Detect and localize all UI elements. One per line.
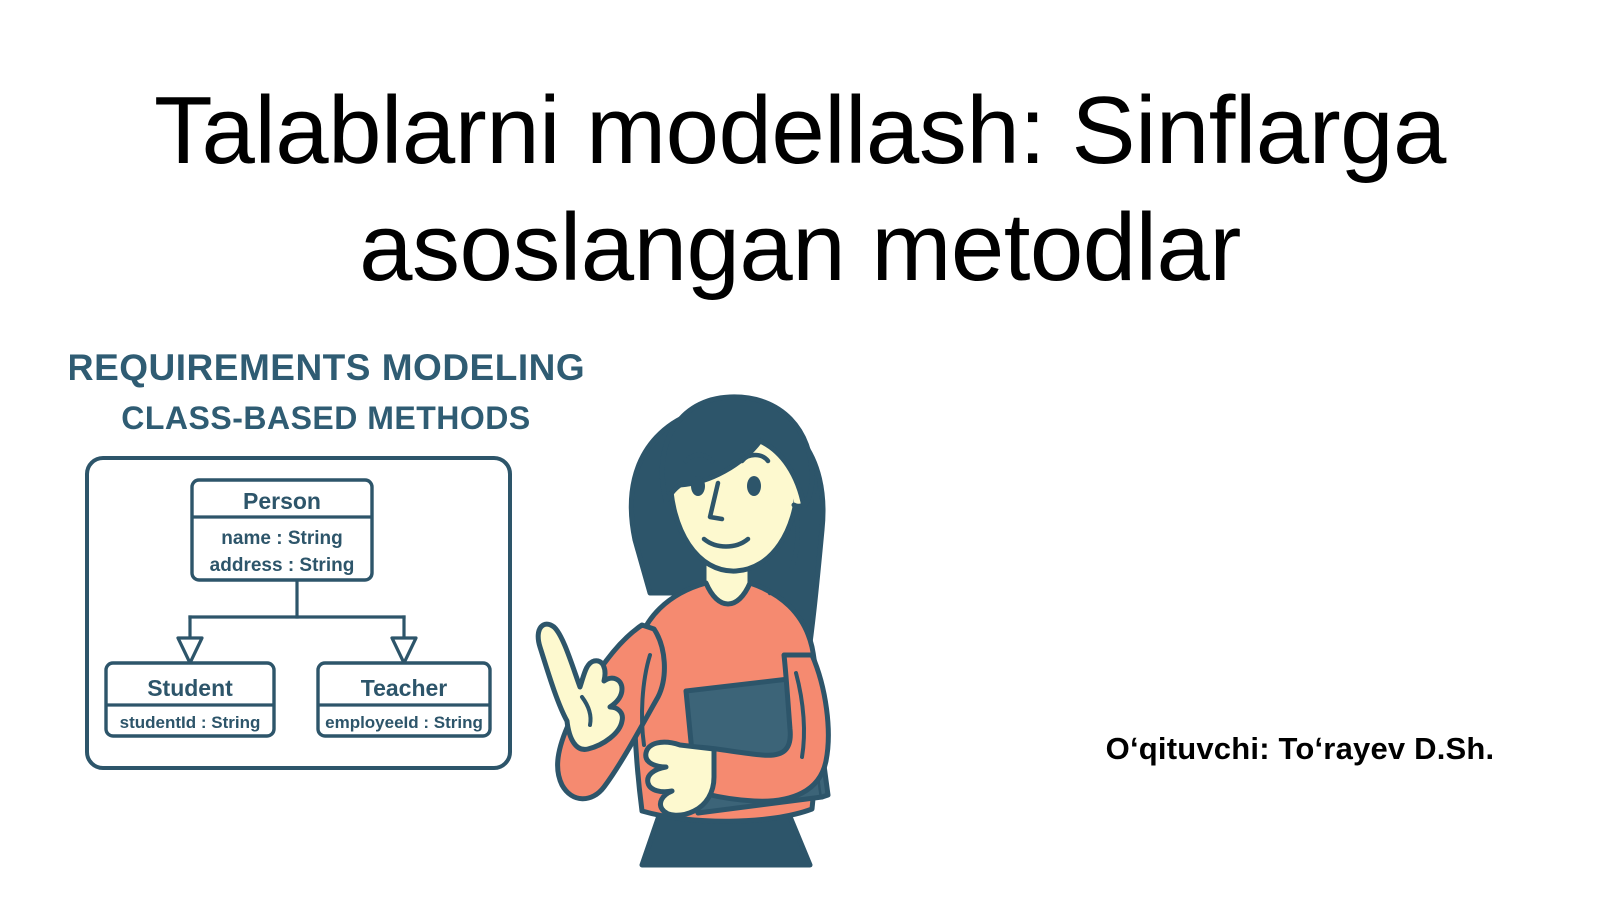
- class-attribute-teacher-0: employeeId : String: [325, 713, 483, 732]
- class-box-student: Student studentId : String: [106, 663, 274, 736]
- illustration-heading-line1: REQUIREMENTS MODELING: [70, 347, 585, 388]
- class-box-person: Person name : String address : String: [192, 480, 372, 580]
- figure-woman: [538, 397, 828, 865]
- class-name-teacher: Teacher: [361, 675, 448, 701]
- class-name-student: Student: [147, 675, 233, 701]
- class-attribute-student-0: studentId : String: [120, 713, 261, 732]
- class-name-person: Person: [243, 488, 321, 514]
- presenter-credit: Oʻqituvchi: Toʻrayev D.Sh.: [1060, 731, 1540, 767]
- eye-right: [747, 476, 761, 496]
- illustration-graphic: REQUIREMENTS MODELING CLASS-BASED METHOD…: [70, 325, 850, 880]
- class-attribute-person-1: address : String: [210, 555, 355, 576]
- class-attribute-person-0: name : String: [221, 528, 342, 549]
- hand-pointing: [538, 624, 622, 749]
- eye-left: [691, 476, 705, 496]
- class-box-teacher: Teacher employeeId : String: [318, 663, 490, 736]
- slide-title: Talablarni modellash: Sinflarga asoslang…: [80, 72, 1520, 306]
- illustration-heading-line2: CLASS-BASED METHODS: [121, 400, 531, 436]
